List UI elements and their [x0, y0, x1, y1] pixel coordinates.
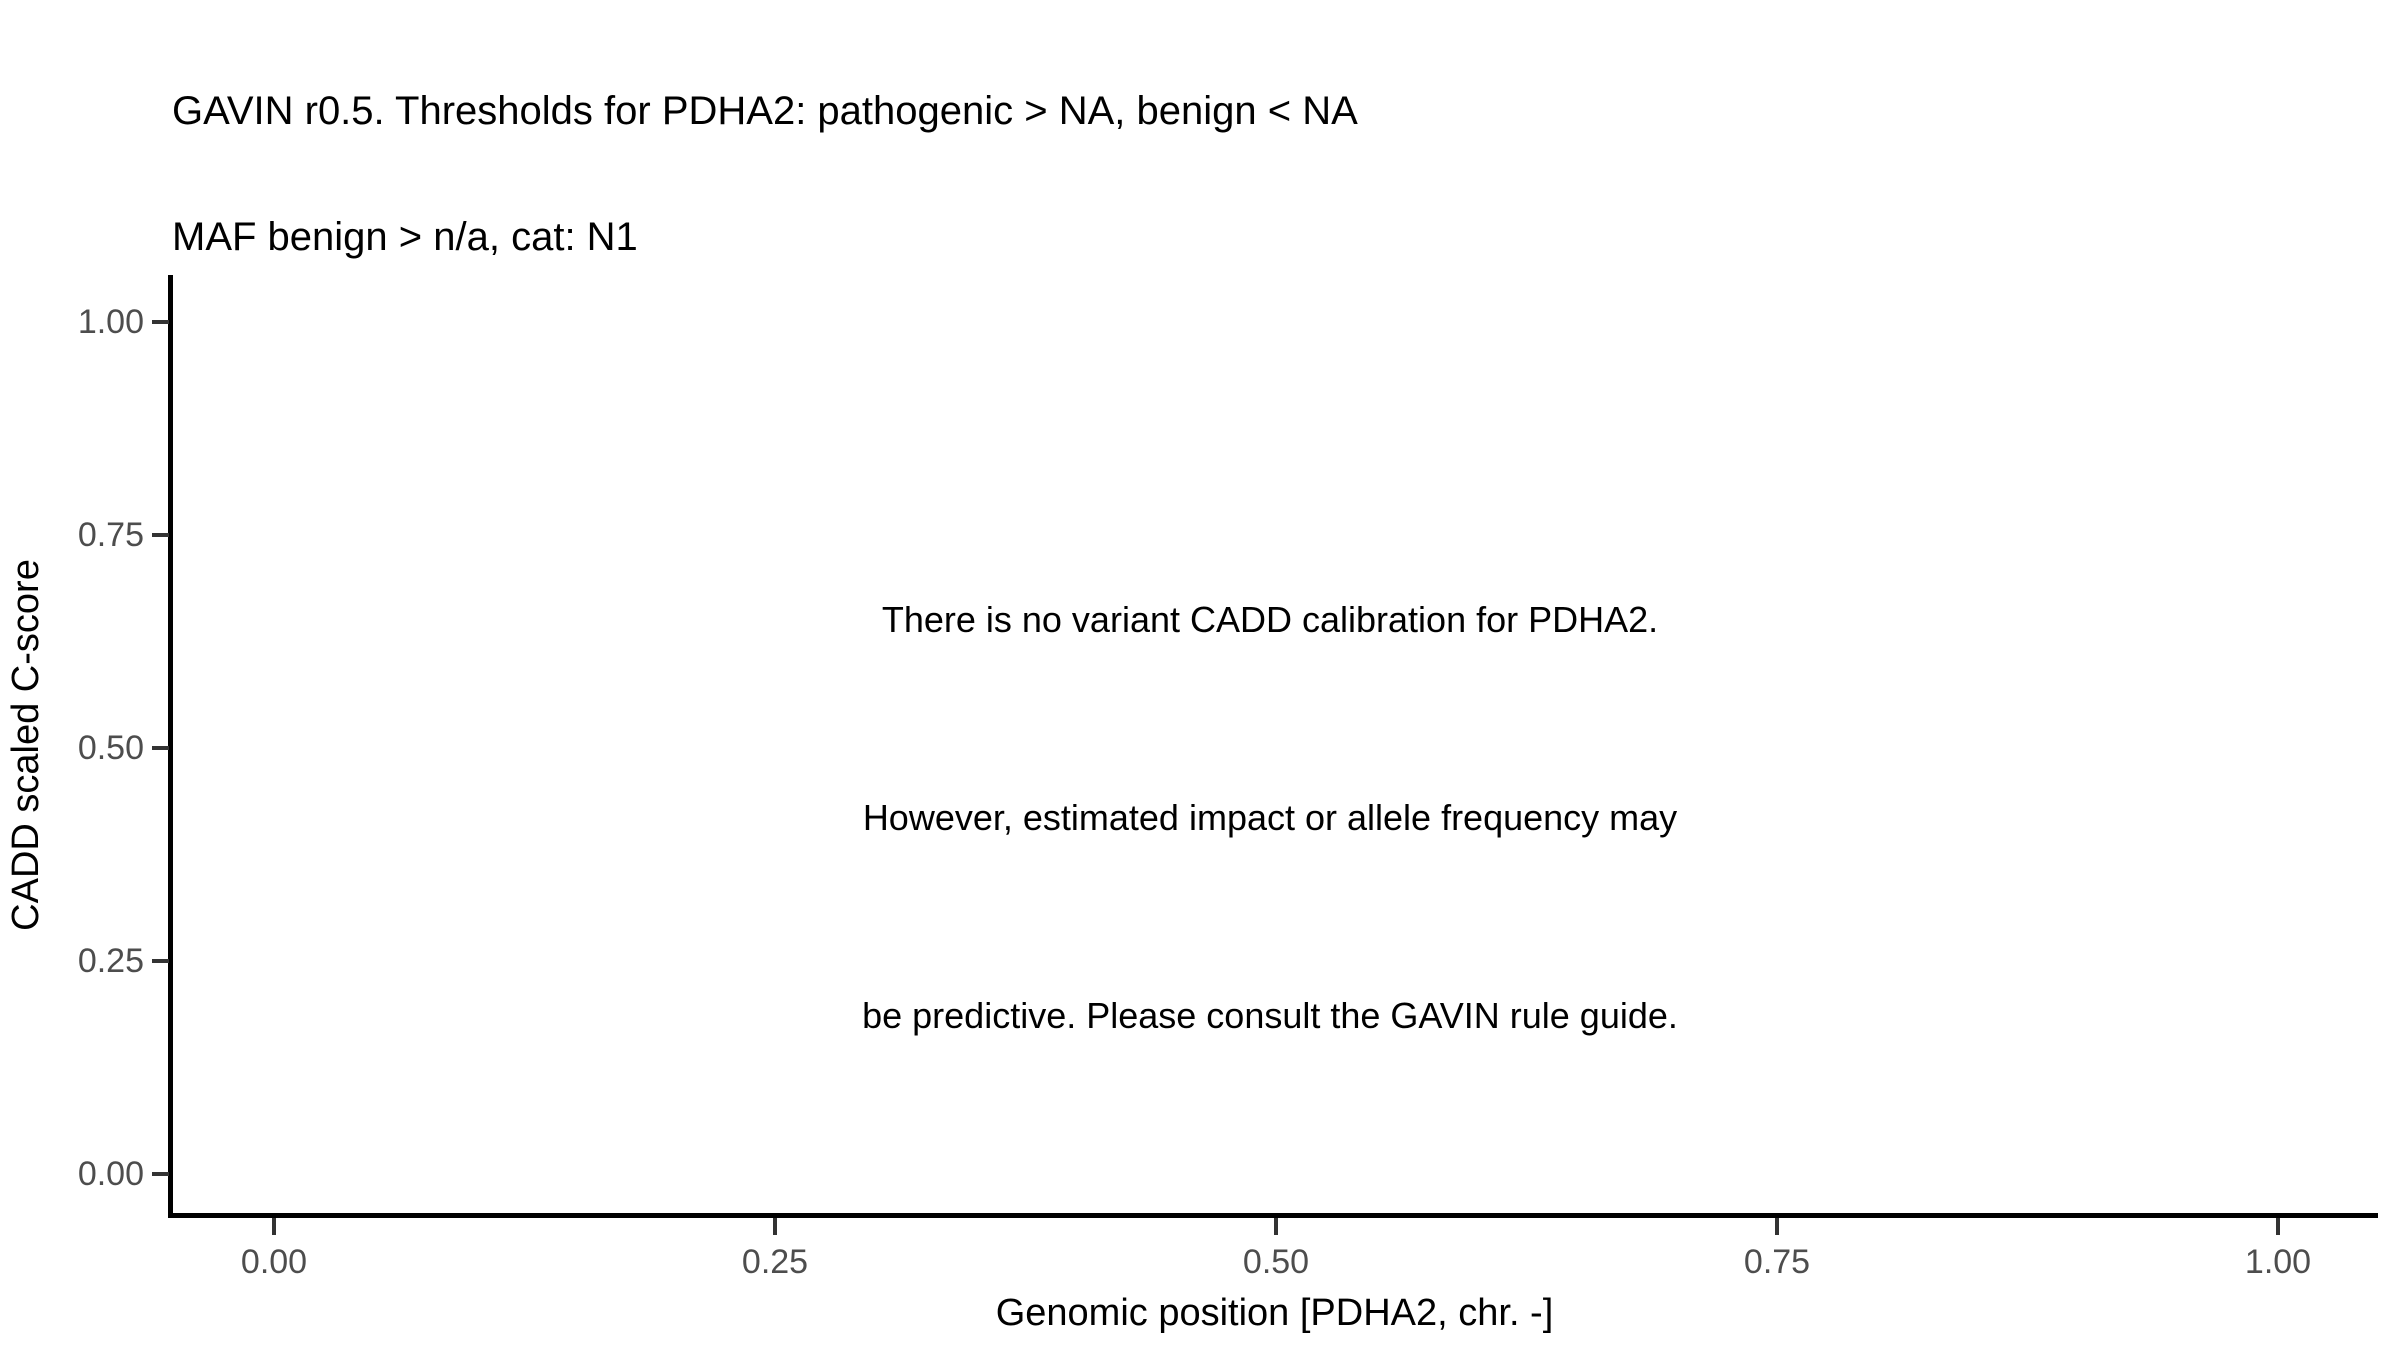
- x-tick-mark-0.00: [272, 1218, 276, 1235]
- x-tick-label-0.00: 0.00: [174, 1245, 374, 1279]
- x-tick-mark-1.00: [2276, 1218, 2280, 1235]
- x-tick-label-0.75: 0.75: [1677, 1245, 1877, 1279]
- x-tick-mark-0.50: [1274, 1218, 1278, 1235]
- x-axis-title: Genomic position [PDHA2, chr. -]: [171, 1292, 2378, 1334]
- y-tick-mark-0.75: [152, 533, 169, 537]
- plot-annotation-line-1: There is no variant CADD calibration for…: [690, 587, 1850, 653]
- y-tick-mark-1.00: [152, 320, 169, 324]
- y-tick-mark-0.50: [152, 746, 169, 750]
- chart-title-line-2: MAF benign > n/a, cat: N1: [172, 216, 2322, 258]
- chart-title-line-1: GAVIN r0.5. Thresholds for PDHA2: pathog…: [172, 90, 2322, 132]
- x-axis-line: [168, 1213, 2378, 1218]
- x-tick-mark-0.75: [1775, 1218, 1779, 1235]
- plot-annotation-line-3: be predictive. Please consult the GAVIN …: [690, 983, 1850, 1049]
- x-tick-mark-0.25: [773, 1218, 777, 1235]
- x-tick-label-0.25: 0.25: [675, 1245, 875, 1279]
- y-tick-mark-0.00: [152, 1172, 169, 1176]
- chart-figure: GAVIN r0.5. Thresholds for PDHA2: pathog…: [0, 0, 2400, 1350]
- plot-annotation-line-2: However, estimated impact or allele freq…: [690, 785, 1850, 851]
- x-tick-label-1.00: 1.00: [2178, 1245, 2378, 1279]
- y-axis-title: CADD scaled C-score: [0, 275, 52, 1215]
- x-tick-label-0.50: 0.50: [1176, 1245, 1376, 1279]
- y-tick-mark-0.25: [152, 959, 169, 963]
- plot-annotation: There is no variant CADD calibration for…: [690, 455, 1850, 1181]
